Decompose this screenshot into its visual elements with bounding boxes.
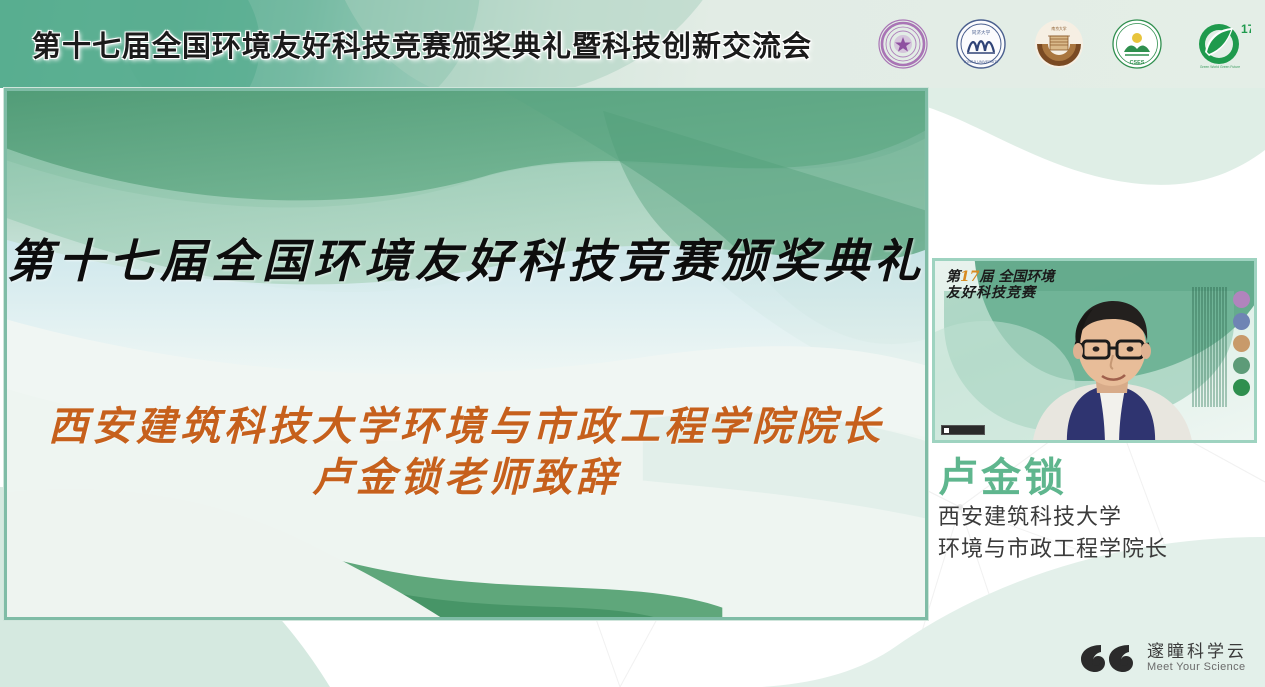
svg-text:同济大学: 同济大学 — [972, 29, 991, 36]
presentation-slide[interactable]: 第十七届全国环境友好科技竞赛颁奖典礼 西安建筑科技大学环境与市政工程学院院长 卢… — [4, 88, 928, 620]
university-seal-brown-icon: 南京大学 — [1033, 18, 1085, 70]
slide-background — [7, 91, 925, 620]
tongji-university-seal-icon: 同济大学 TONGJI UNIVERSITY — [955, 18, 1007, 70]
speaker-info-block: 卢金锁 西安建筑科技大学 环境与市政工程学院长 — [938, 455, 1258, 566]
platform-brand: 邃瞳科学云 Meet Your Science — [1079, 641, 1247, 675]
svg-text:CSES: CSES — [1130, 60, 1145, 66]
speaker-video-panel[interactable]: 第17届 全国环境 友好科技竞赛 — [932, 258, 1257, 443]
video-backdrop-line1: 第17届 全国环境 — [946, 269, 1054, 285]
video-stream[interactable]: 第17届 全国环境 友好科技竞赛 — [935, 261, 1254, 440]
video-seal-leaf-icon — [1233, 379, 1250, 396]
svg-text:17: 17 — [1241, 22, 1251, 36]
video-seal-purple-icon — [1233, 291, 1250, 308]
speaker-name: 卢金锁 — [938, 455, 1258, 502]
video-seal-blue-icon — [1233, 313, 1250, 330]
slide-main-title: 第十七届全国环境友好科技竞赛颁奖典礼 — [7, 225, 925, 291]
speaker-video-figure — [1027, 297, 1197, 443]
header-banner: 第十七届全国环境友好科技竞赛颁奖典礼暨科技创新交流会 同济大学 — [0, 0, 1265, 88]
cses-seal-icon: CSES — [1111, 18, 1163, 70]
slide-subtitle-line2: 卢金锁老师致辞 — [7, 451, 925, 505]
video-backdrop-vertical-text — [1192, 287, 1228, 407]
slide-subtitle-line1: 西安建筑科技大学环境与市政工程学院院长 — [7, 403, 925, 451]
speaker-title: 环境与市政工程学院长 — [938, 534, 1258, 566]
video-backdrop-logo-strip — [1233, 291, 1250, 396]
header-logo-strip: 同济大学 TONGJI UNIVERSITY 南京大学 CSES — [877, 0, 1251, 88]
speaker-organization: 西安建筑科技大学 — [938, 502, 1258, 534]
slide-subtitle: 西安建筑科技大学环境与市政工程学院院长 卢金锁老师致辞 — [7, 403, 925, 505]
brand-name-en: Meet Your Science — [1147, 661, 1247, 673]
video-corner-watermark — [941, 425, 985, 435]
university-seal-purple-icon — [877, 18, 929, 70]
video-seal-cses-icon — [1233, 357, 1250, 374]
svg-text:TONGJI UNIVERSITY: TONGJI UNIVERSITY — [963, 60, 999, 64]
video-seal-brown-icon — [1233, 335, 1250, 352]
brand-text: 邃瞳科学云 Meet Your Science — [1147, 643, 1247, 674]
svg-text:Green World Green Future: Green World Green Future — [1200, 65, 1240, 69]
event-title: 第十七届全国环境友好科技竞赛颁奖典礼暨科技创新交流会 — [32, 23, 812, 65]
meet-your-science-logo-icon — [1079, 641, 1137, 675]
svg-text:南京大学: 南京大学 — [1051, 26, 1066, 31]
green-world-leaf-logo-icon: 17 Green World Green Future — [1189, 18, 1251, 70]
brand-name-cn: 邃瞳科学云 — [1147, 643, 1247, 662]
